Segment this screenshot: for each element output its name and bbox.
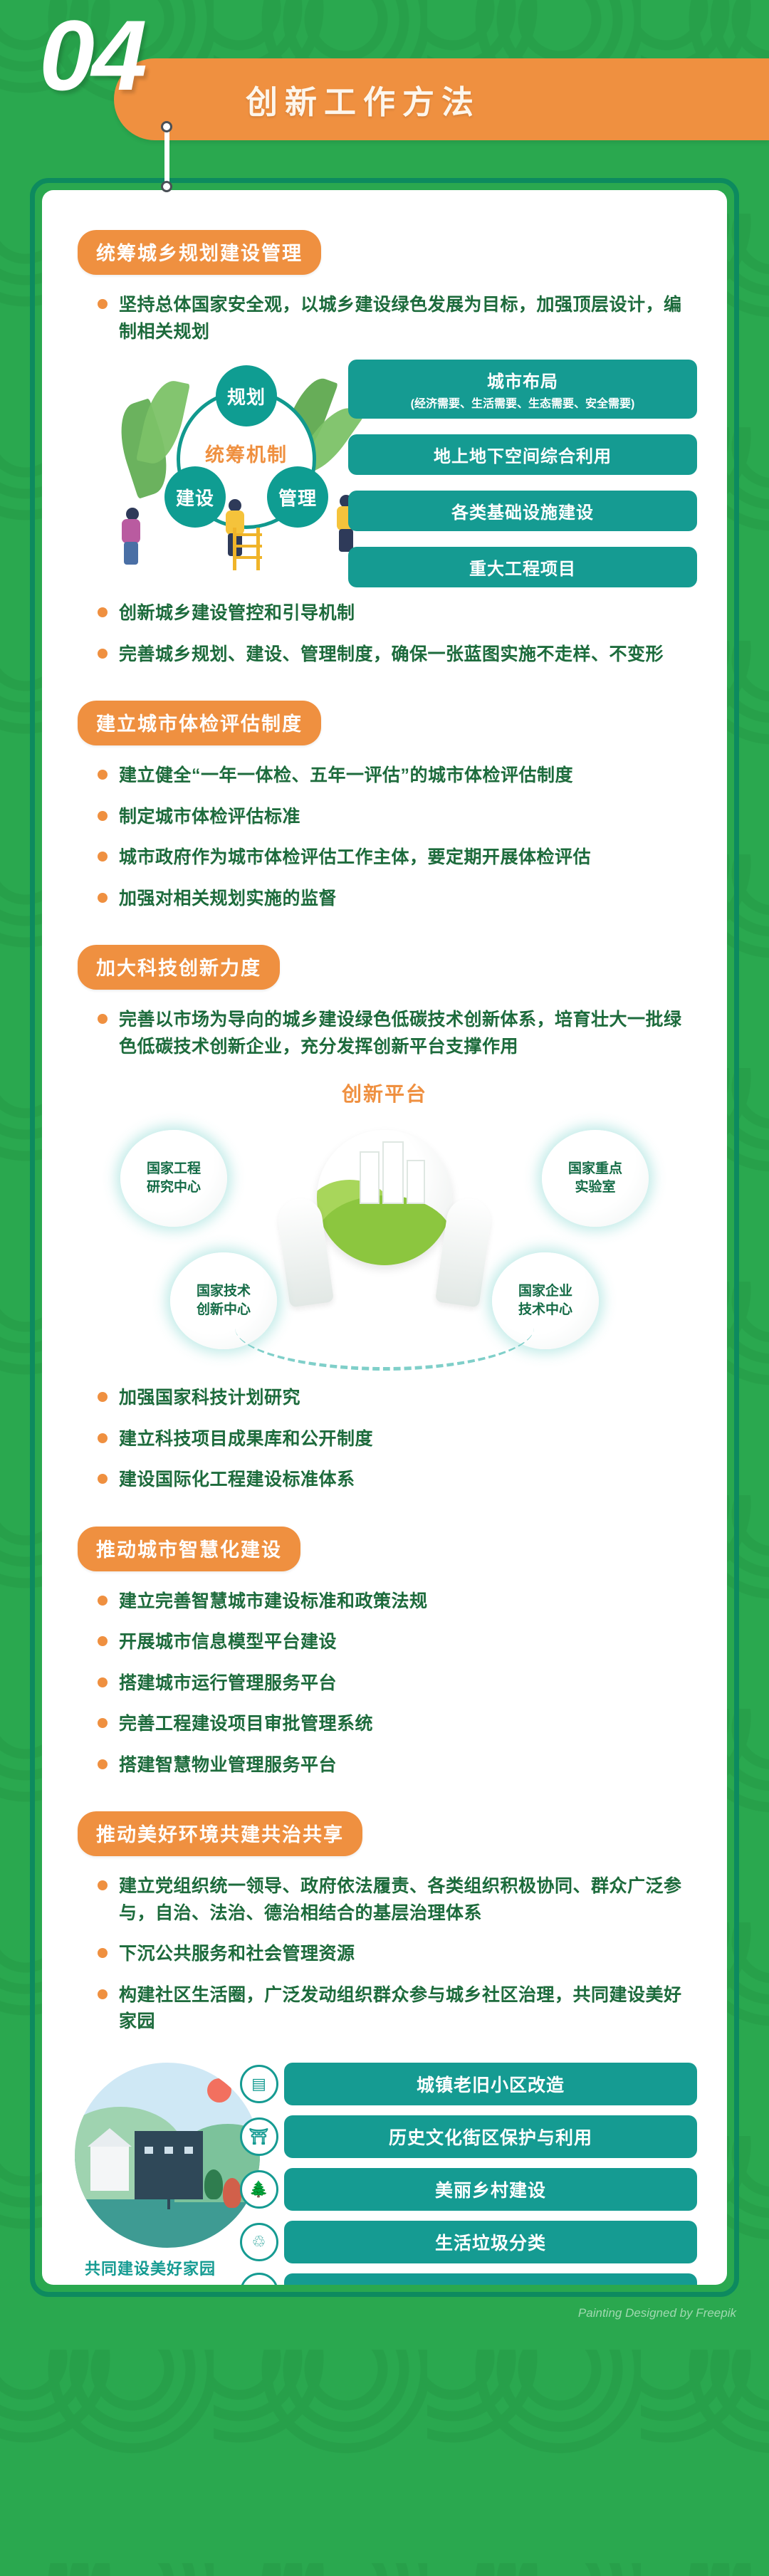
bullet-dot-icon <box>98 1759 108 1769</box>
bullet-dot-icon <box>98 1433 108 1443</box>
coordination-mechanism-diagram: 统筹机制 规划 建设 管理 <box>42 360 727 595</box>
list-item: 建设国际化工程建设标准体系 <box>98 1467 690 1494</box>
list-item: 加强国家科技计划研究 <box>98 1385 690 1412</box>
building-icon <box>360 1151 380 1204</box>
bullet-dot-icon <box>98 1948 108 1958</box>
section-1-bullets-bottom: 创新城乡建设管控和引导机制 完善城乡规划、建设、管理制度，确保一张蓝图实施不走样… <box>98 600 690 668</box>
header-banner: 创新工作方法 <box>114 58 769 140</box>
list-item: 建立科技项目成果库和公开制度 <box>98 1426 690 1453</box>
bullet-dot-icon <box>98 811 108 821</box>
ellipsis-icon: ••• <box>240 2273 278 2285</box>
diagram-node-construction: 建设 <box>164 466 226 528</box>
list-item: 搭建智慧物业管理服务平台 <box>98 1752 690 1779</box>
diagram-box-3: 各类基础设施建设 <box>348 491 697 531</box>
list-item: 完善工程建设项目审批管理系统 <box>98 1711 690 1738</box>
section-3-bullets-bottom: 加强国家科技计划研究 建立科技项目成果库和公开制度 建设国际化工程建设标准体系 <box>98 1385 690 1494</box>
diagram-box-list: 城市布局 (经济需要、生活需要、生态需要、安全需要) 地上地下空间综合利用 各类… <box>348 360 697 603</box>
bullet-dot-icon <box>98 893 108 903</box>
bullet-dot-icon <box>98 852 108 862</box>
platform-label-text: 国家工程 研究中心 <box>147 1160 201 1196</box>
diagram-box-1-title: 城市布局 <box>487 372 558 392</box>
bullet-text: 构建社区生活圈，广泛发动组织群众参与城乡社区治理，共同建设美好家园 <box>119 1982 690 2036</box>
list-item-label: … <box>481 2282 500 2285</box>
section-heading-4: 推动城市智慧化建设 <box>78 1527 300 1571</box>
bullet-text: 加强对相关规划实施的监督 <box>119 886 337 913</box>
bullet-text: 城市政府作为城市体检评估工作主体，要定期开展体检评估 <box>119 844 591 871</box>
list-item: 完善城乡规划、建设、管理制度，确保一张蓝图实施不走样、不变形 <box>98 642 690 669</box>
list-item: 创新城乡建设管控和引导机制 <box>98 600 690 627</box>
section-1-bullets-top: 坚持总体国家安全观，以城乡建设绿色发展为目标，加强顶层设计，编制相关规划 <box>98 292 690 345</box>
list-item: ▤ 城镇老旧小区改造 <box>284 2063 697 2105</box>
tree-icon <box>204 2169 223 2199</box>
bullet-text: 开展城市信息模型平台建设 <box>119 1629 337 1656</box>
section-heading-3: 加大科技创新力度 <box>78 945 280 990</box>
poster-page: 创新工作方法 04 统筹城乡规划建设管理 坚持总体国家安全观，以城乡建设绿色发展… <box>0 0 769 2415</box>
list-item: 搭建城市运行管理服务平台 <box>98 1670 690 1697</box>
content-card: 统筹城乡规划建设管理 坚持总体国家安全观，以城乡建设绿色发展为目标，加强顶层设计… <box>42 190 727 2285</box>
bullet-text: 建设国际化工程建设标准体系 <box>119 1467 355 1494</box>
bullet-text: 建立科技项目成果库和公开制度 <box>119 1426 373 1453</box>
innovation-platform-title: 创新平台 <box>42 1074 727 1107</box>
bullet-text: 建立完善智慧城市建设标准和政策法规 <box>119 1588 428 1616</box>
bullet-text: 下沉公共服务和社会管理资源 <box>119 1941 355 1968</box>
list-item: 建立完善智慧城市建设标准和政策法规 <box>98 1588 690 1616</box>
temple-icon: ⛩ <box>240 2117 278 2156</box>
house-icon <box>90 2147 129 2191</box>
platform-label-text: 国家重点 实验室 <box>568 1160 622 1196</box>
diagram-center-label: 统筹机制 <box>177 439 316 467</box>
bullet-text: 搭建城市运行管理服务平台 <box>119 1670 337 1697</box>
diagram-illustration: 统筹机制 规划 建设 管理 <box>110 360 374 595</box>
bullet-dot-icon <box>98 649 108 659</box>
poster-header: 创新工作方法 04 <box>0 0 769 178</box>
bullet-text: 完善城乡规划、建设、管理制度，确保一张蓝图实施不走样、不变形 <box>119 642 664 669</box>
diagram-box-4: 重大工程项目 <box>348 547 697 587</box>
bullet-dot-icon <box>98 1636 108 1646</box>
platform-label-national-key-laboratory: 国家重点 实验室 <box>542 1130 649 1227</box>
bullet-dot-icon <box>98 607 108 617</box>
building-icon <box>382 1141 404 1204</box>
bullet-dot-icon <box>98 1014 108 1024</box>
hanger-pin <box>161 121 172 192</box>
diagram-box-1: 城市布局 (经济需要、生活需要、生态需要、安全需要) <box>348 360 697 419</box>
section-3-bullets-top: 完善以市场为导向的城乡建设绿色低碳技术创新体系，培育壮大一批绿色低碳技术创新企业… <box>98 1007 690 1060</box>
section-5-bullets: 建立党组织统一领导、政府依法履责、各类组织积极协同、群众广泛参与，自治、法治、德… <box>98 1873 690 2036</box>
bullet-dot-icon <box>98 770 108 780</box>
bullet-text: 制定城市体检评估标准 <box>119 804 300 831</box>
section-heading-1: 统筹城乡规划建设管理 <box>78 230 321 275</box>
bullet-dot-icon <box>98 1596 108 1606</box>
platform-label-text: 国家企业 技术中心 <box>518 1282 572 1319</box>
diagram-node-planning: 规划 <box>216 365 277 426</box>
bullet-dot-icon <box>98 1989 108 1999</box>
bullet-dot-icon <box>98 1392 108 1402</box>
bullet-text: 完善以市场为导向的城乡建设绿色低碳技术创新体系，培育壮大一批绿色低碳技术创新企业… <box>119 1007 690 1060</box>
list-item-label: 历史文化街区保护与利用 <box>389 2128 592 2148</box>
building-icon <box>407 1160 425 1204</box>
footer-credit-text: Painting Designed by Freepik <box>578 2306 736 2320</box>
bullet-dot-icon <box>98 1474 108 1484</box>
trash-icon: ♲ <box>240 2223 278 2261</box>
diagram-box-2: 地上地下空间综合利用 <box>348 434 697 475</box>
list-item: 建立健全“一年一体检、五年一评估”的城市体检评估制度 <box>98 763 690 790</box>
dashed-arc <box>235 1285 534 1371</box>
beautiful-homeland-section: ▤ 城镇老旧小区改造 ⛩ 历史文化街区保护与利用 🌲 美丽乡村建设 ♲ 生活垃圾… <box>42 2050 727 2285</box>
section-heading-5: 推动美好环境共建共治共享 <box>78 1811 362 1856</box>
page-title: 创新工作方法 <box>246 76 481 122</box>
bullet-text: 完善工程建设项目审批管理系统 <box>119 1711 373 1738</box>
bullet-text: 搭建智慧物业管理服务平台 <box>119 1752 337 1779</box>
hands-holding-city-illustration <box>295 1130 474 1308</box>
list-item: ••• … <box>284 2273 697 2285</box>
list-item: 城市政府作为城市体检评估工作主体，要定期开展体检评估 <box>98 844 690 871</box>
section-4-bullets: 建立完善智慧城市建设标准和政策法规 开展城市信息模型平台建设 搭建城市运行管理服… <box>98 1588 690 1779</box>
list-item: 制定城市体检评估标准 <box>98 804 690 831</box>
list-item: 开展城市信息模型平台建设 <box>98 1629 690 1656</box>
section-number: 04 <box>39 6 145 105</box>
diagram-node-management: 管理 <box>267 466 328 528</box>
hanger-knob-top <box>161 121 172 132</box>
section-2-bullets: 建立健全“一年一体检、五年一评估”的城市体检评估制度 制定城市体检评估标准 城市… <box>98 763 690 912</box>
tree-icon <box>223 2178 241 2208</box>
list-item: ⛩ 历史文化街区保护与利用 <box>284 2115 697 2158</box>
list-item: 🌲 美丽乡村建设 <box>284 2168 697 2211</box>
bullet-dot-icon <box>98 1677 108 1687</box>
list-item-label: 城镇老旧小区改造 <box>417 2075 565 2095</box>
list-item: 下沉公共服务和社会管理资源 <box>98 1941 690 1968</box>
bullet-dot-icon <box>98 1880 108 1890</box>
list-item: 坚持总体国家安全观，以城乡建设绿色发展为目标，加强顶层设计，编制相关规划 <box>98 292 690 345</box>
list-item: ♲ 生活垃圾分类 <box>284 2221 697 2263</box>
sun-icon <box>207 2078 231 2103</box>
section-heading-2: 建立城市体检评估制度 <box>78 701 321 745</box>
pole-icon <box>167 2169 170 2209</box>
list-item-label: 美丽乡村建设 <box>435 2181 546 2201</box>
homeland-item-list: ▤ 城镇老旧小区改造 ⛩ 历史文化街区保护与利用 🌲 美丽乡村建设 ♲ 生活垃圾… <box>284 2063 697 2285</box>
homeland-caption: 共同建设美好家园 <box>85 2256 216 2279</box>
list-item: 加强对相关规划实施的监督 <box>98 886 690 913</box>
bullet-text: 加强国家科技计划研究 <box>119 1385 300 1412</box>
bullet-dot-icon <box>98 1718 108 1728</box>
city-globe-icon <box>317 1130 452 1265</box>
footer-credit-bar: Painting Designed by Freepik <box>0 2297 769 2330</box>
innovation-platform-diagram: 创新平台 国家工程 研究中心 国家技术 创新中心 国家重点 实验室 <box>42 1074 727 1381</box>
ladder-icon <box>233 528 260 570</box>
list-item: 构建社区生活圈，广泛发动组织群众参与城乡社区治理，共同建设美好家园 <box>98 1982 690 2036</box>
bullet-text: 创新城乡建设管控和引导机制 <box>119 600 355 627</box>
footer-spacer <box>0 2330 769 2415</box>
bullet-text: 建立健全“一年一体检、五年一评估”的城市体检评估制度 <box>119 763 573 790</box>
bullet-text: 建立党组织统一领导、政府依法履责、各类组织积极协同、群众广泛参与，自治、法治、德… <box>119 1873 690 1927</box>
diagram-box-1-subtitle: (经济需要、生活需要、生态需要、安全需要) <box>355 394 690 411</box>
content-card-frame: 统筹城乡规划建设管理 坚持总体国家安全观，以城乡建设绿色发展为目标，加强顶层设计… <box>30 178 739 2297</box>
building-icon: ▤ <box>240 2065 278 2103</box>
bullet-text: 坚持总体国家安全观，以城乡建设绿色发展为目标，加强顶层设计，编制相关规划 <box>119 292 690 345</box>
platform-label-national-engineering-research-center: 国家工程 研究中心 <box>120 1130 227 1227</box>
hanger-knob-bottom <box>161 181 172 192</box>
village-illustration <box>75 2063 260 2248</box>
list-item-label: 生活垃圾分类 <box>435 2234 546 2253</box>
list-item: 完善以市场为导向的城乡建设绿色低碳技术创新体系，培育壮大一批绿色低碳技术创新企业… <box>98 1007 690 1060</box>
tree-icon: 🌲 <box>240 2170 278 2209</box>
bullet-dot-icon <box>98 299 108 309</box>
list-item: 建立党组织统一领导、政府依法履责、各类组织积极协同、群众广泛参与，自治、法治、德… <box>98 1873 690 1927</box>
